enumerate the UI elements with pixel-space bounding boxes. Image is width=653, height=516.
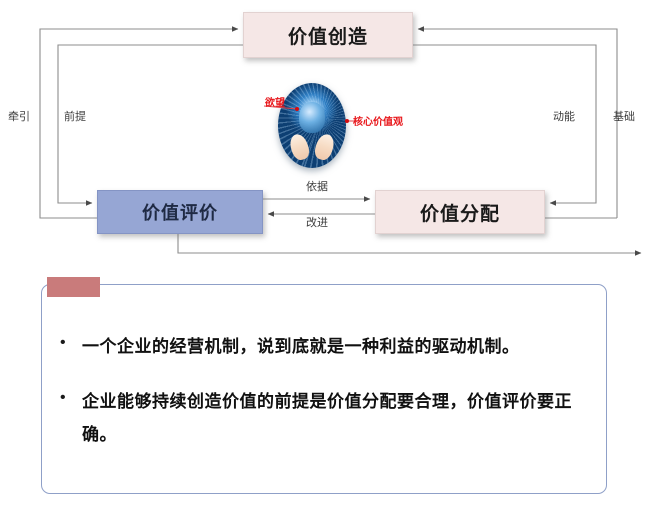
node-value-allocation-label: 价值分配	[420, 199, 500, 226]
edge-label-foundation: 基础	[613, 112, 635, 123]
slide-canvas: 价值创造 价值评价 价值分配 牵引 前提 动能 基础 依据 改进	[0, 0, 653, 516]
annotation-core-values: 核心价值观	[353, 113, 403, 128]
card-accent-tab	[47, 277, 100, 297]
value-cycle-diagram: 价值创造 价值评价 价值分配 牵引 前提 动能 基础 依据 改进	[0, 0, 653, 268]
globe-head-shape	[299, 102, 325, 133]
edge-label-traction: 牵引	[8, 112, 30, 123]
bullet-text: 企业能够持续创造价值的前提是价值分配要合理，价值评价要正确。	[82, 385, 590, 451]
annotation-dot-desire	[295, 107, 299, 111]
edge-label-improvement: 改进	[306, 218, 328, 229]
node-value-creation-label: 价值创造	[288, 22, 368, 49]
annotation-desire: 欲望	[265, 94, 285, 109]
annotation-dot-core-values	[345, 119, 349, 123]
edge-label-kinetic-energy: 动能	[553, 112, 575, 123]
node-value-evaluation[interactable]: 价值评价	[97, 190, 263, 234]
bullet-text: 一个企业的经营机制，说到底就是一种利益的驱动机制。	[82, 330, 520, 363]
globe-hands-icon	[278, 83, 346, 168]
bullet-marker: •	[60, 330, 82, 356]
bullet-marker: •	[60, 385, 82, 411]
bullet-list: • 一个企业的经营机制，说到底就是一种利益的驱动机制。 • 企业能够持续创造价值…	[60, 330, 590, 473]
edge-label-premise: 前提	[64, 112, 86, 123]
node-value-allocation[interactable]: 价值分配	[375, 190, 545, 234]
list-item: • 企业能够持续创造价值的前提是价值分配要合理，价值评价要正确。	[60, 385, 590, 451]
edge-label-basis: 依据	[306, 182, 328, 193]
globe-sphere	[278, 83, 346, 168]
list-item: • 一个企业的经营机制，说到底就是一种利益的驱动机制。	[60, 330, 590, 363]
node-value-creation[interactable]: 价值创造	[243, 12, 413, 58]
node-value-evaluation-label: 价值评价	[142, 199, 218, 225]
